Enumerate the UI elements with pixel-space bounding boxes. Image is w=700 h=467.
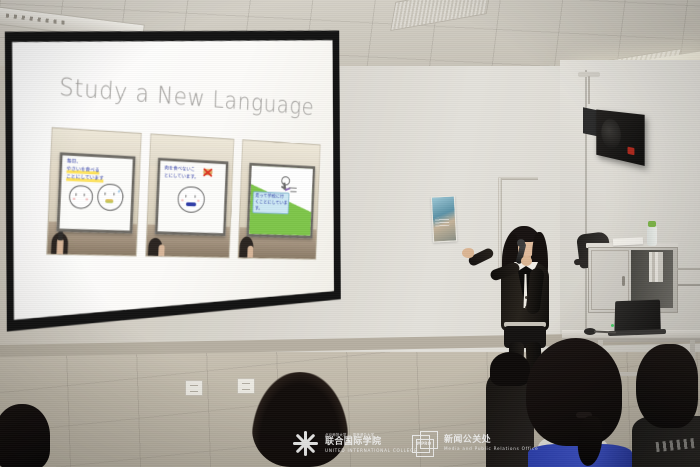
audience-right-dark-jacket [636, 344, 700, 467]
panel1-doodle-head-right [97, 184, 124, 212]
presenter-gesturing-hand [462, 248, 474, 258]
mpro-logo-icon: MPRO [412, 431, 438, 457]
cabinet-shelf [677, 268, 700, 270]
water-bottle-cap [648, 221, 656, 227]
speaker-cone [601, 118, 621, 151]
water-bottle [647, 226, 657, 246]
mpro-cn-name: 新闻公关处 [444, 436, 538, 445]
audience-far-left [0, 404, 54, 467]
microphone-head-icon [517, 239, 525, 247]
slide-title: Study a New Language [59, 73, 315, 121]
panel-vegetables: 毎日、 やさいを食べる ことにしています [46, 127, 142, 256]
uic-cn-name: 联合国际学院 [325, 438, 418, 447]
panel-whiteboard: 毎日、 やさいを食べる ことにしています [56, 153, 135, 234]
presenter-mic-hand [521, 256, 532, 266]
mpro-logo-text: MPRO [417, 441, 431, 446]
speaker-led-icon [628, 147, 635, 156]
panel3-line-3: す。 [255, 206, 263, 212]
projection-screen: Study a New Language 毎日、 やさいを食べる ことにしていま… [0, 14, 412, 344]
watermark-uic: 北京师范大学 — 香港浸会大学 联合国际学院 UNITED INTERNATIO… [292, 430, 418, 457]
wall-poster [431, 195, 457, 242]
projection-screen-frame: Study a New Language 毎日、 やさいを食べる ことにしていま… [0, 14, 341, 332]
cabinet-handle [622, 276, 625, 286]
panel1-doodle-head-left [68, 185, 93, 209]
panel1-line-3: ことにしています [66, 174, 104, 182]
power-outlet-left [185, 380, 203, 396]
panel1-raised-hand [57, 238, 64, 254]
laptop-power-led-icon [611, 324, 614, 327]
panel2-doodle-head [177, 186, 205, 213]
panel1-line-1: 毎日、 [67, 159, 82, 166]
panel-whiteboard: 肉を食べないこ とにしています。 [155, 158, 229, 236]
laptop-computer [614, 300, 660, 333]
panel-whiteboard: 走って学校に行 くことにしていま す。 [246, 163, 315, 238]
panel3-speech-box: 走って学校に行 くことにしていま す。 [252, 191, 289, 214]
panel2-raised-hand [158, 245, 164, 256]
panel2-line-2: とにしています。 [164, 173, 199, 181]
cabinet-contents [649, 252, 663, 282]
photo-scene: Study a New Language 毎日、 やさいを食べる ことにしていま… [0, 0, 700, 467]
panel1-line-2: やさいを食べる [66, 167, 99, 175]
slide-photo-panels: 毎日、 やさいを食べる ことにしています [46, 127, 321, 269]
panel1-phone [58, 232, 63, 241]
uic-en-name: UNITED INTERNATIONAL COLLEGE [325, 449, 418, 453]
panel-run-to-school: 走って学校に行 くことにしていま す。 [238, 139, 321, 259]
panel-no-meat: 肉を食べないこ とにしています。 [145, 134, 234, 259]
projection-screen-surface: Study a New Language 毎日、 やさいを食べる ことにしていま… [8, 23, 334, 322]
mpro-en-name: Media and Public Relations Office [444, 447, 538, 451]
speaker-ceiling-rod [588, 76, 590, 104]
cabinet-shelf [677, 284, 700, 286]
wall-conduit-elbow [498, 176, 538, 180]
presentation-slide: Study a New Language 毎日、 やさいを食べる ことにしていま… [8, 23, 334, 322]
snowflake-icon [292, 430, 319, 457]
panel3-raised-hand [247, 246, 253, 258]
watermark-mpro: MPRO 新闻公关处 Media and Public Relations Of… [412, 431, 538, 457]
